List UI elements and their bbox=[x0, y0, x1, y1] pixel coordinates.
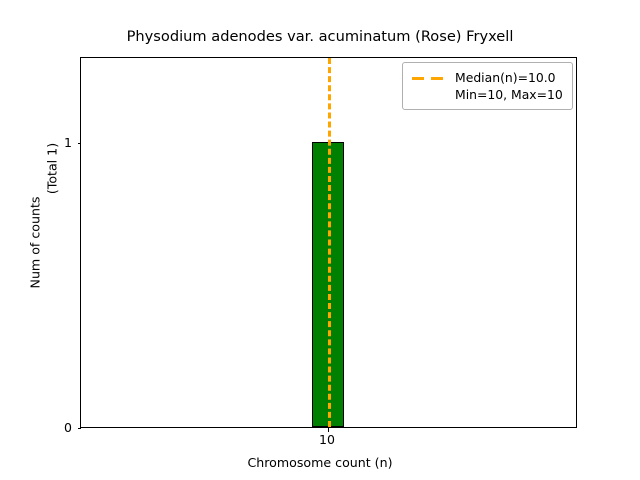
y-tick-mark-0 bbox=[78, 428, 82, 429]
plot-inner bbox=[81, 58, 576, 427]
y-tick-mark-1 bbox=[78, 143, 82, 144]
page-title: Physodium adenodes var. acuminatum (Rose… bbox=[0, 28, 640, 46]
x-tick-mark-10 bbox=[328, 428, 329, 432]
figure-canvas: Physodium adenodes var. acuminatum (Rose… bbox=[0, 0, 640, 480]
x-tick-label-10: 10 bbox=[287, 433, 367, 446]
legend-label-minmax: Min=10, Max=10 bbox=[455, 87, 563, 102]
plot-area bbox=[80, 57, 577, 428]
dashed-line-icon bbox=[411, 71, 447, 85]
y-tick-label-1: 1 bbox=[12, 137, 72, 149]
y-tick-label-0: 0 bbox=[12, 422, 72, 434]
legend-entry-minmax: Min=10, Max=10 bbox=[411, 86, 564, 103]
x-axis-label: Chromosome count (n) bbox=[0, 455, 640, 470]
median-line bbox=[328, 58, 331, 427]
legend: Median(n)=10.0 Min=10, Max=10 bbox=[402, 62, 573, 110]
y-axis-label-total: (Total 1) bbox=[45, 29, 60, 309]
legend-entry-median: Median(n)=10.0 bbox=[411, 69, 564, 86]
legend-label-median: Median(n)=10.0 bbox=[455, 70, 556, 85]
